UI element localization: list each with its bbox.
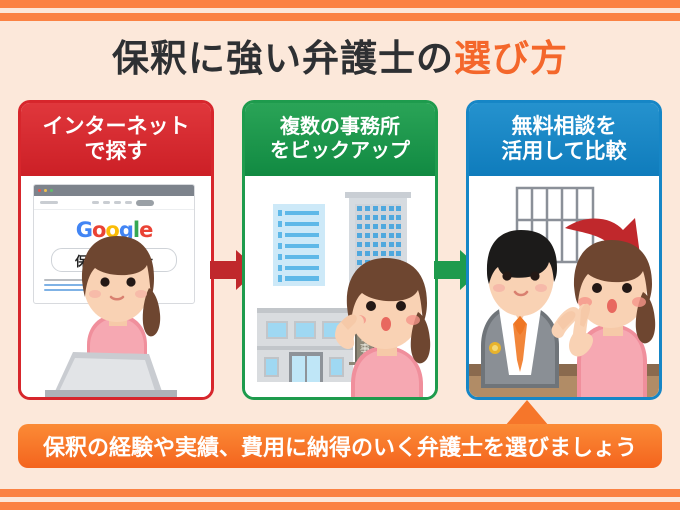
page-title: 保釈に強い弁護士の選び方 <box>0 28 680 82</box>
step-card-1-title-line2: で探す <box>85 140 148 165</box>
step-card-free-consultation[interactable]: 無料相談を 活用して比較 <box>466 100 662 400</box>
infographic-stage: 保釈に強い弁護士の選び方 インターネット で探す <box>0 0 680 510</box>
page-title-accent: 選び方 <box>454 38 568 79</box>
banner-pointer-notch <box>505 400 549 426</box>
bottom-rule-outer <box>0 502 680 510</box>
summary-banner: 保釈の経験や実績、費用に納得のいく弁護士を選びましょう <box>18 424 662 468</box>
step-card-2-header: 複数の事務所 をピックアップ <box>245 103 435 176</box>
summary-banner-text: 保釈の経験や実績、費用に納得のいく弁護士を選びましょう <box>43 430 637 462</box>
woman-with-laptop-illustration <box>21 176 211 400</box>
step-card-3-header: 無料相談を 活用して比較 <box>469 103 659 176</box>
step-card-internet-search[interactable]: インターネット で探す Google <box>18 100 214 400</box>
lawyer-consultation-illustration <box>469 176 659 400</box>
step-card-2-title-line2: をピックアップ <box>270 140 410 164</box>
page-title-main: 保釈に強い弁護士の <box>112 38 454 79</box>
top-rule-inner <box>0 13 680 21</box>
step-card-2-title-line1: 複数の事務所 <box>280 116 400 140</box>
step-card-2-body: 法 律 事 務 所 <box>245 176 435 400</box>
bottom-rule-inner <box>0 489 680 497</box>
step-card-3-title-line1: 無料相談を <box>512 115 617 140</box>
law-offices-illustration: 法 律 事 務 所 <box>245 176 435 400</box>
top-rule-outer <box>0 0 680 8</box>
step-card-1-header: インターネット で探す <box>21 103 211 176</box>
step-card-3-body <box>469 176 659 400</box>
step-card-1-title-line1: インターネット <box>43 115 190 140</box>
step-card-1-body: Google 保釈 弁護士 <box>21 176 211 400</box>
step-card-3-title-line2: 活用して比較 <box>501 140 626 165</box>
step-card-pick-offices[interactable]: 複数の事務所 をピックアップ <box>242 100 438 400</box>
